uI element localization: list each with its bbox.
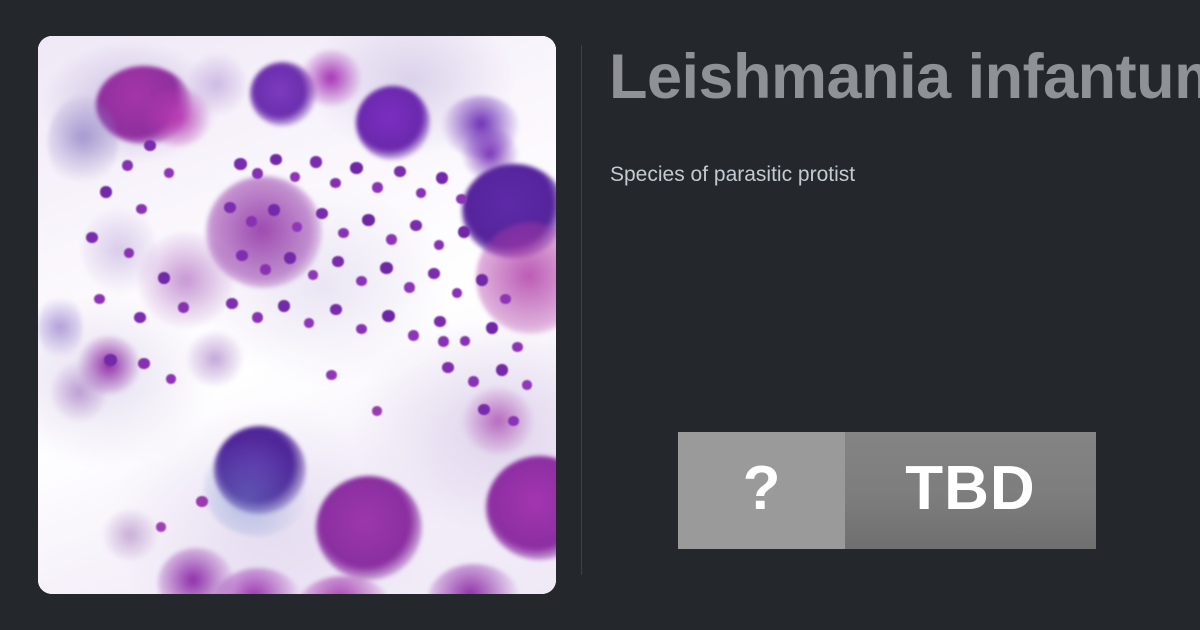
page-subtitle: Species of parasitic protist — [610, 163, 855, 187]
leishmania-amastigotes-giemsa-micrograph: Giemsa-stained bone marrow smear showing… — [38, 36, 556, 594]
badge-value-segment: TBD — [845, 432, 1096, 549]
micrograph-panel[interactable]: Giemsa-stained bone marrow smear showing… — [38, 36, 556, 594]
question-mark-glyph: ? — [743, 458, 781, 520]
info-panel: Leishmania infantum Species of parasitic… — [609, 0, 1200, 630]
vertical-divider — [581, 45, 582, 575]
status-badge[interactable]: ? TBD — [678, 432, 1096, 549]
page-title: Leishmania infantum — [609, 44, 1200, 110]
preview-card: Giemsa-stained bone marrow smear showing… — [0, 0, 1200, 630]
question-mark-icon: ? — [678, 432, 845, 549]
badge-value-label: TBD — [905, 458, 1035, 520]
